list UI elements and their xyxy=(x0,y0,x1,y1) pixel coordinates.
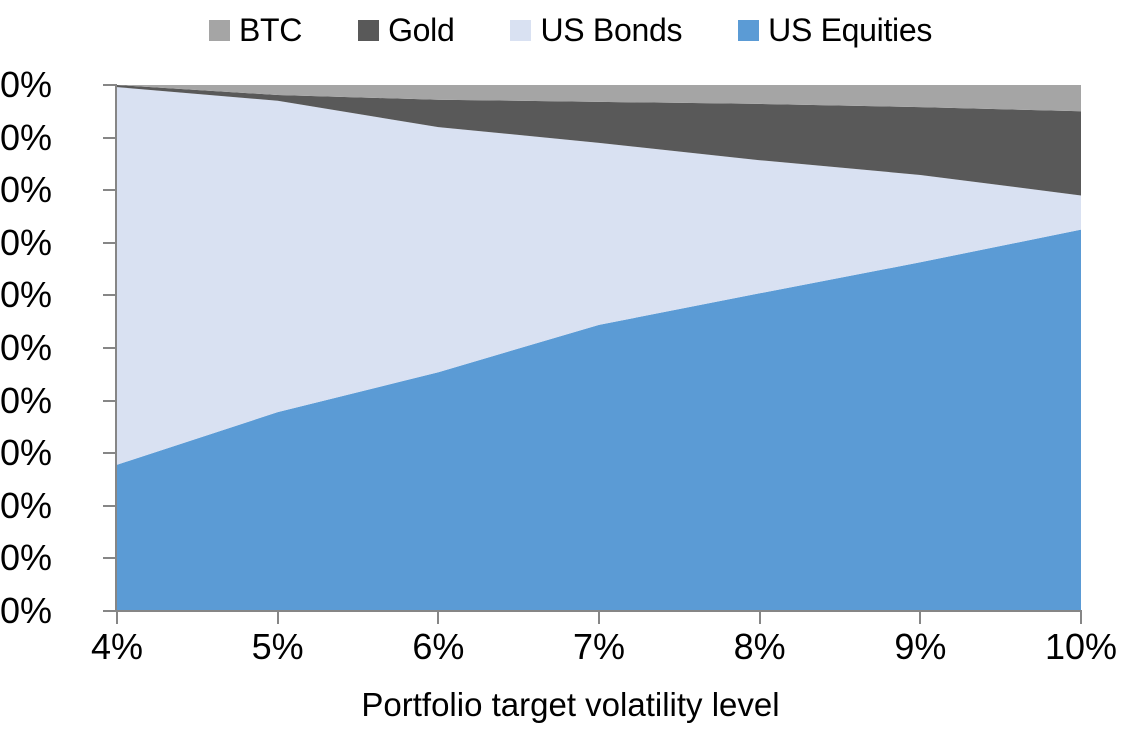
x-tick-label-4: 4% xyxy=(47,629,187,665)
x-tick-label-8: 8% xyxy=(690,629,830,665)
y-tick-100 xyxy=(103,84,116,86)
y-tick-label-70: 70% xyxy=(0,225,52,261)
x-tick-8 xyxy=(759,612,761,624)
y-tick-0 xyxy=(103,610,116,612)
stacked-area-chart: BTC Gold US Bonds US Equities 100%90%80%… xyxy=(0,0,1141,742)
x-tick-7 xyxy=(598,612,600,624)
legend-swatch-us-bonds xyxy=(510,20,531,41)
legend-item-btc[interactable]: BTC xyxy=(209,14,302,46)
x-axis-title: Portfolio target volatility level xyxy=(0,688,1141,722)
y-tick-30 xyxy=(103,452,116,454)
y-tick-label-0: 0% xyxy=(0,593,52,629)
y-tick-80 xyxy=(103,189,116,191)
y-tick-label-30: 30% xyxy=(0,435,52,471)
area-series-svg xyxy=(117,85,1081,611)
x-tick-10 xyxy=(1080,612,1082,624)
legend-item-gold[interactable]: Gold xyxy=(358,14,454,46)
x-tick-label-6: 6% xyxy=(368,629,508,665)
y-tick-60 xyxy=(103,294,116,296)
legend-label-gold: Gold xyxy=(388,14,454,46)
legend-swatch-btc xyxy=(209,20,230,41)
legend-label-btc: BTC xyxy=(239,14,302,46)
y-tick-40 xyxy=(103,400,116,402)
x-tick-4 xyxy=(116,612,118,624)
y-tick-label-60: 60% xyxy=(0,277,52,313)
y-tick-10 xyxy=(103,557,116,559)
legend-item-us-equities[interactable]: US Equities xyxy=(738,14,932,46)
x-tick-6 xyxy=(437,612,439,624)
y-tick-50 xyxy=(103,347,116,349)
y-tick-label-90: 90% xyxy=(0,120,52,156)
y-tick-label-20: 20% xyxy=(0,488,52,524)
legend-swatch-gold xyxy=(358,20,379,41)
y-tick-label-40: 40% xyxy=(0,383,52,419)
legend-item-us-bonds[interactable]: US Bonds xyxy=(510,14,682,46)
x-tick-5 xyxy=(277,612,279,624)
y-tick-label-50: 50% xyxy=(0,330,52,366)
legend-swatch-us-equities xyxy=(738,20,759,41)
y-tick-label-100: 100% xyxy=(0,67,52,103)
legend-label-us-equities: US Equities xyxy=(768,14,932,46)
y-tick-20 xyxy=(103,505,116,507)
y-tick-90 xyxy=(103,137,116,139)
x-tick-label-5: 5% xyxy=(208,629,348,665)
plot-area xyxy=(117,85,1081,611)
x-tick-label-9: 9% xyxy=(850,629,990,665)
x-tick-9 xyxy=(919,612,921,624)
x-tick-label-7: 7% xyxy=(529,629,669,665)
y-tick-label-10: 10% xyxy=(0,540,52,576)
y-tick-label-80: 80% xyxy=(0,172,52,208)
x-tick-label-10: 10% xyxy=(1011,629,1141,665)
y-tick-70 xyxy=(103,242,116,244)
chart-legend: BTC Gold US Bonds US Equities xyxy=(0,8,1141,52)
legend-label-us-bonds: US Bonds xyxy=(540,14,682,46)
